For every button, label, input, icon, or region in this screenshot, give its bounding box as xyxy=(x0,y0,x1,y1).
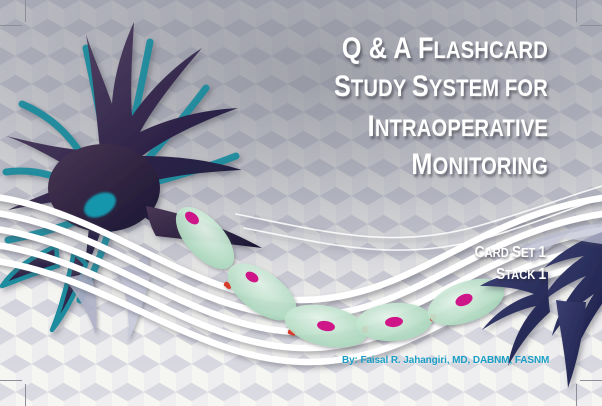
card-set-label: CARD SET 1 xyxy=(474,244,546,262)
card-set-block: CARD SET 1 STACK 1 xyxy=(463,244,546,285)
title-line-2: STUDY SYSTEM FOR xyxy=(271,72,548,103)
stack-label: STACK 1 xyxy=(474,266,546,284)
author-byline: By: Faisal R. Jahangiri, MD, DABNM, FASN… xyxy=(342,354,549,366)
title-line-4: MONITORING xyxy=(271,150,548,181)
title-line-3: INTRAOPERATIVE xyxy=(271,112,548,143)
cover-title-block: Q & A FLASHCARD STUDY SYSTEM FOR INTRAOP… xyxy=(218,34,548,180)
flashcard-cover: Q & A FLASHCARD STUDY SYSTEM FOR INTRAOP… xyxy=(0,0,602,406)
title-line-1: Q & A FLASHCARD xyxy=(271,34,548,65)
